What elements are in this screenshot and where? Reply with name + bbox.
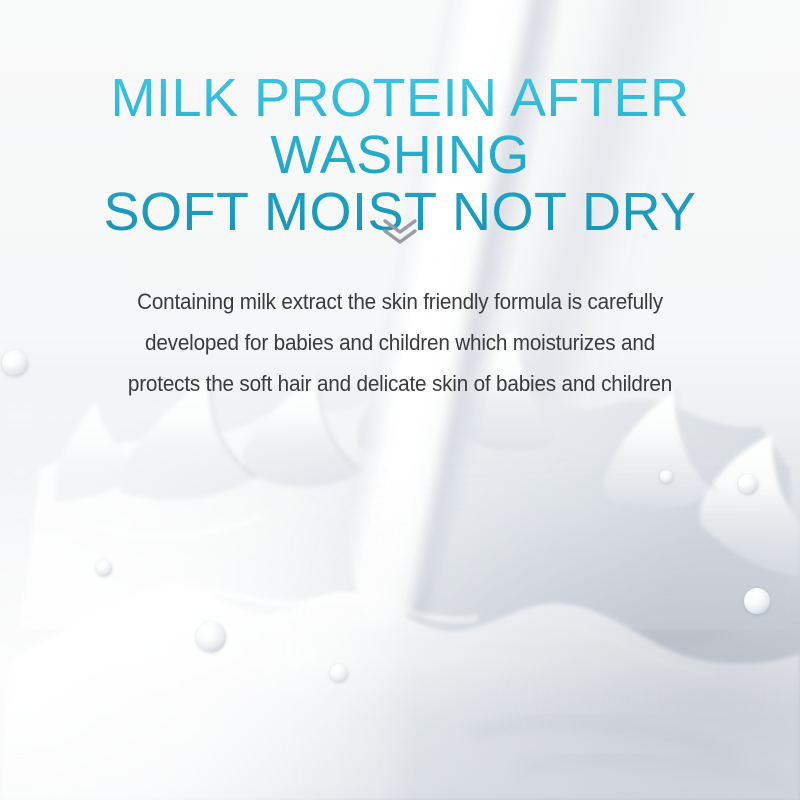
milk-droplet	[330, 664, 348, 682]
milk-droplet	[96, 560, 112, 576]
body-description: Containing milk extract the skin friendl…	[32, 281, 768, 404]
pool-left-fade	[0, 384, 400, 800]
milk-droplet	[196, 622, 226, 652]
milk-droplet	[744, 588, 770, 614]
pool-shadow	[320, 496, 800, 800]
scroll-hint	[0, 216, 800, 251]
milk-droplet	[738, 474, 758, 494]
double-chevron-down-icon	[379, 216, 421, 251]
product-banner: MILK PROTEIN AFTER WASHING SOFT MOIST NO…	[0, 0, 800, 800]
milk-droplet	[2, 350, 28, 376]
milk-droplet	[660, 470, 673, 483]
